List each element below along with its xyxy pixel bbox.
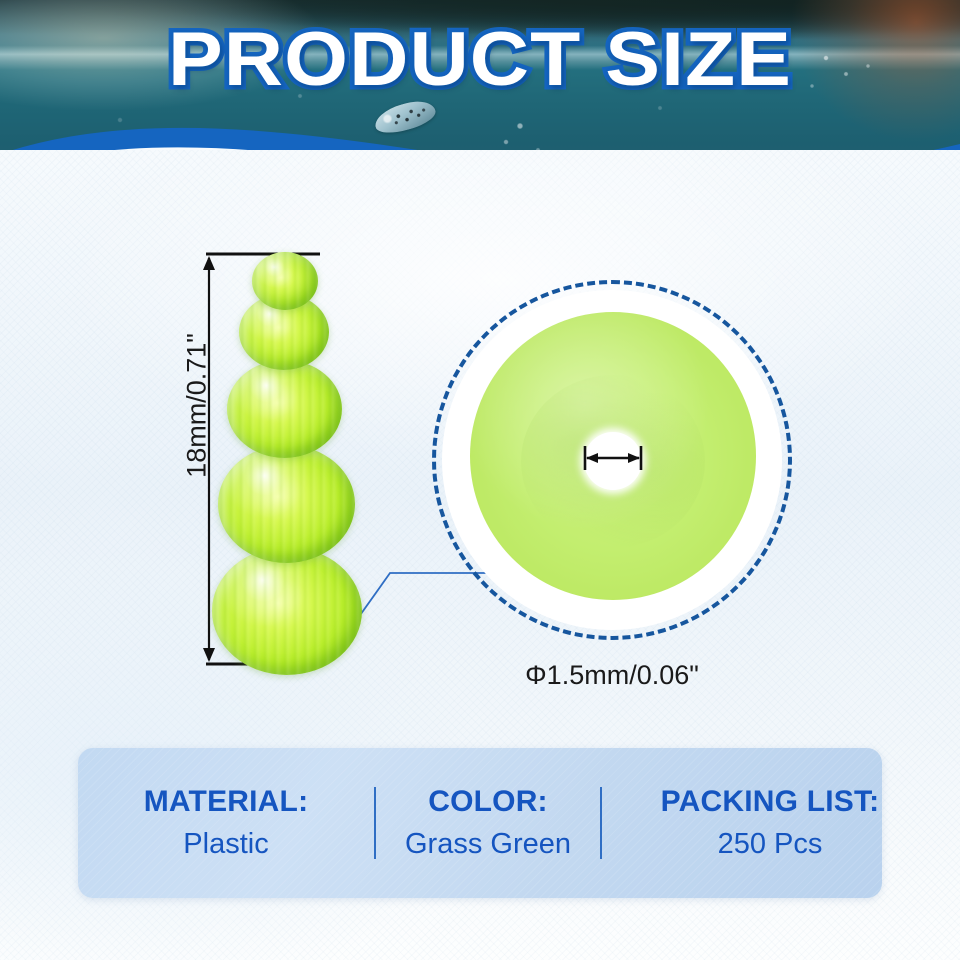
spec-value-packing-list: 250 Pcs	[620, 826, 920, 863]
hole-dimension-arrow	[574, 432, 652, 490]
spec-value-material: Plastic	[96, 826, 356, 863]
spec-column-color: COLOR: Grass Green	[376, 783, 600, 863]
page-title: PRODUCT SIZE	[0, 22, 960, 98]
product-size-infographic: PRODUCT SIZE 18mm/0.71"	[0, 0, 960, 960]
bead-segment	[252, 252, 318, 310]
specification-panel: MATERIAL: Plastic COLOR: Grass Green PAC…	[78, 748, 882, 898]
bead-segment	[212, 547, 362, 675]
product-bead-image	[212, 252, 362, 664]
spec-key-color: COLOR:	[394, 783, 582, 821]
bead-segment	[227, 360, 342, 458]
spec-column-material: MATERIAL: Plastic	[78, 783, 374, 863]
bead-segment	[218, 445, 355, 563]
spec-key-material: MATERIAL:	[96, 783, 356, 821]
detail-magnifier-circle	[432, 280, 792, 640]
spec-key-packing-list: PACKING LIST:	[620, 783, 920, 821]
spec-value-color: Grass Green	[394, 826, 582, 863]
spec-column-packing-list: PACKING LIST: 250 Pcs	[602, 783, 938, 863]
hole-dimension-caption: Φ1.5mm/0.06"	[432, 660, 792, 691]
